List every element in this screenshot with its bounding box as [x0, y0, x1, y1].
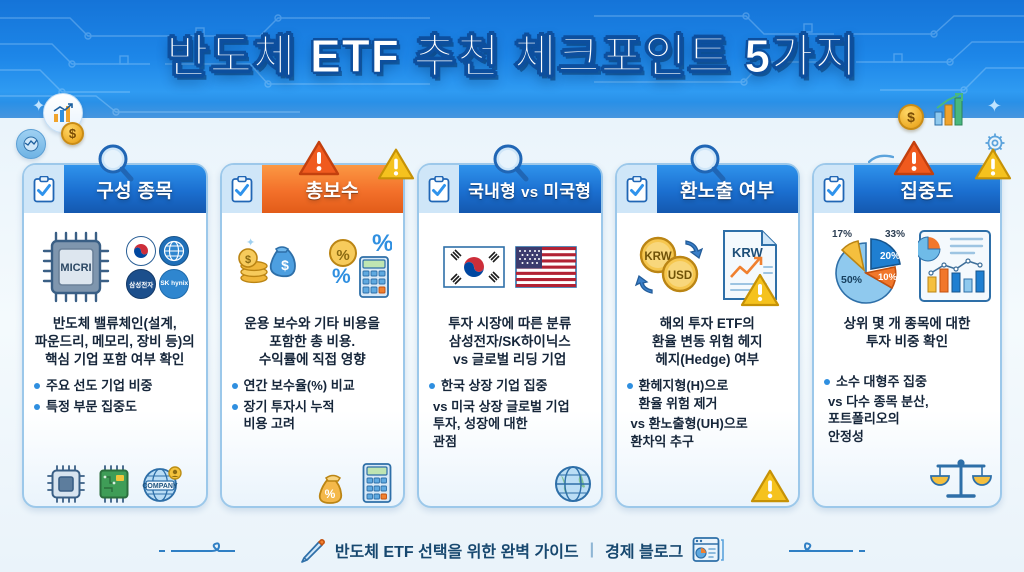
card-description: 운용 보수와 기타 비용을 포함한 총 비용. 수익률에 직접 영향: [230, 313, 396, 368]
card-illustration: KRW USD KRW: [625, 221, 791, 313]
coin-stack-money-bag-icon: ✦ $ $: [232, 232, 320, 302]
card-illustration: MICRI: [32, 221, 198, 313]
list-item: 장기 투자시 누적 비용 고려: [232, 398, 396, 433]
bullet-text: vs 미국 상장 글로벌 기업 투자, 성장에 대한 관점: [433, 398, 570, 450]
pie-label-50: 50%: [841, 274, 863, 286]
bullet-text: 주요 선도 기업 비중: [46, 377, 153, 394]
svg-text:%: %: [337, 247, 350, 264]
page-title-wrap: 반도체 ETF 추천 체크포인트 5가지: [0, 20, 1024, 86]
card-title: 총보수: [306, 176, 359, 203]
bullet-text: 특정 부문 집중도: [46, 398, 137, 415]
card-body: KRW USD KRW: [617, 213, 799, 506]
company-badge-grid: 삼성전자 SK hynix: [126, 236, 189, 299]
card-body: 투자 시장에 따른 분류 삼성전자/SK하이닉스 vs 글로벌 리딩 기업 한국…: [419, 213, 601, 506]
microchip-icon: MICRI: [40, 229, 120, 305]
svg-text:$: $: [281, 257, 289, 273]
clipboard-check-icon: [419, 165, 459, 213]
magnifier-icon: [684, 141, 730, 183]
globe-badge-icon: [159, 236, 189, 266]
pie-label-33: 33%: [885, 229, 905, 240]
card-title: 집중도: [900, 176, 953, 203]
card-title-post: 미국형: [543, 182, 591, 201]
bullet-dot: [429, 383, 435, 389]
list-item: 한국 상장 기업 집중: [429, 377, 593, 394]
list-item: 연간 보수율(%) 비교: [232, 377, 396, 394]
globe-chart-icon: [16, 129, 46, 159]
bullet-dot: [34, 404, 40, 410]
card-domestic-vs-us[interactable]: 국내형 vs 미국형: [417, 163, 603, 508]
clipboard-check-icon: [24, 165, 64, 213]
report-window-icon: [692, 536, 726, 564]
card-bullets: 연간 보수율(%) 비교 장기 투자시 누적 비용 고려: [230, 377, 396, 500]
list-item: 특정 부문 집중도: [34, 398, 198, 415]
bullet-text: 한국 상장 기업 집중: [441, 377, 548, 394]
svg-text:$: $: [245, 254, 251, 266]
samsung-badge-icon: 삼성전자: [126, 269, 156, 299]
footer-line-left: [157, 539, 289, 561]
card-body: 17% 33% 20% 10% 50%: [814, 213, 1000, 506]
card-description: 해외 투자 ETF의 환율 변동 위험 헤지 헤지(Hedge) 여부: [625, 313, 791, 368]
checkpoint-card-row: 구성 종목: [22, 163, 1002, 508]
magnifier-icon: [92, 141, 138, 183]
card-concentration[interactable]: 집중도 17% 33% 20% 10% 50%: [812, 163, 1002, 508]
card-bullets: 주요 선도 기업 비중 특정 부문 집중도: [32, 377, 198, 500]
card-bullets: 한국 상장 기업 집중 vs 미국 상장 글로벌 기업 투자, 성장에 대한 관…: [427, 377, 593, 500]
card-description: 투자 시장에 따른 분류 삼성전자/SK하이닉스 vs 글로벌 리딩 기업: [427, 313, 593, 368]
list-item: vs 환노출형(UH)으로 환차익 추구: [627, 415, 791, 450]
bullet-text: 연간 보수율(%) 비교: [244, 377, 355, 394]
list-item: vs 다수 종목 분산, 포트폴리오의 안정성: [824, 393, 992, 445]
card-body: ✦ $ $ % % %: [222, 213, 404, 506]
footer-bar: 반도체 ETF 선택을 위한 완벽 가이드 | 경제 블로그: [0, 536, 1024, 564]
korea-flag-icon: [443, 246, 505, 288]
krw-document-chart-icon: KRW: [720, 227, 782, 307]
card-description: 상위 몇 개 종목에 대한 투자 비중 확인: [822, 313, 992, 351]
sk-hynix-badge-icon: SK hynix: [159, 269, 189, 299]
card-title-vs: vs: [521, 184, 538, 201]
footer-line-right: [735, 539, 867, 561]
bullet-text: 소수 대형주 집중: [836, 373, 927, 390]
bullet-dot: [627, 383, 633, 389]
list-item: 환헤지형(H)으로 환율 위험 제거: [627, 377, 791, 412]
sk-label: SK hynix: [160, 280, 188, 287]
bullet-text: vs 다수 종목 분산, 포트폴리오의 안정성: [828, 393, 929, 445]
card-illustration: ✦ $ $ % % %: [230, 221, 396, 313]
magnifier-icon: [487, 141, 533, 183]
card-bullets: 소수 대형주 집중 vs 다수 종목 분산, 포트폴리오의 안정성: [822, 373, 992, 500]
card-total-fee[interactable]: 총보수 ✦ $ $ %: [220, 163, 406, 508]
chip-label: MICRI: [61, 262, 92, 274]
page-title: 반도체 ETF 추천 체크포인트 5가지: [166, 20, 857, 86]
clipboard-check-icon: [617, 165, 657, 213]
currency-exchange-icon: KRW USD: [632, 227, 718, 307]
usd-coin-label: USD: [668, 270, 692, 282]
footer-separator: |: [590, 541, 594, 559]
report-chart-icon: [918, 227, 992, 307]
pie-label-10: 10%: [878, 272, 898, 283]
clipboard-check-icon: [814, 165, 854, 213]
card-illustration: [427, 221, 593, 313]
bullet-dot: [232, 383, 238, 389]
pencil-icon: [298, 537, 326, 563]
warning-icon: [298, 139, 340, 177]
korea-flag-badge-icon: [126, 236, 156, 266]
dollar-coin-icon: $: [61, 122, 84, 145]
list-item: 소수 대형주 집중: [824, 373, 992, 390]
pie-chart-icon: 17% 33% 20% 10% 50%: [822, 223, 914, 311]
card-body: MICRI: [24, 213, 206, 506]
footer-guide-text: 반도체 ETF 선택을 위한 완벽 가이드: [335, 538, 579, 562]
warning-icon: [377, 147, 415, 181]
bullet-dot: [824, 379, 830, 385]
sparkle-icon: ✦: [987, 96, 1002, 117]
pie-label-20: 20%: [880, 251, 900, 262]
footer-brand: 경제 블로그: [605, 538, 683, 562]
pie-label-17: 17%: [832, 229, 852, 240]
card-composition[interactable]: 구성 종목: [22, 163, 208, 508]
card-illustration: 17% 33% 20% 10% 50%: [822, 221, 992, 313]
list-item: 주요 선도 기업 비중: [34, 377, 198, 394]
svg-text:%: %: [372, 231, 392, 257]
svg-text:%: %: [332, 265, 351, 288]
bullet-text: vs 환노출형(UH)으로 환차익 추구: [631, 415, 748, 450]
usa-flag-icon: [515, 246, 577, 288]
sparkle-icon: ✦: [246, 237, 255, 249]
samsung-label: 삼성전자: [129, 279, 153, 289]
card-title-pre: 국내형: [468, 182, 516, 201]
clipboard-check-icon: [222, 165, 262, 213]
card-fx-exposure[interactable]: 환노출 여부 KRW USD KRW: [615, 163, 801, 508]
bullet-text: 장기 투자시 누적 비용 고려: [244, 398, 335, 433]
growth-chart-icon: [932, 92, 972, 133]
warning-icon: [893, 139, 935, 177]
list-item: vs 미국 상장 글로벌 기업 투자, 성장에 대한 관점: [429, 398, 593, 450]
bullet-dot: [232, 404, 238, 410]
card-bullets: 환헤지형(H)으로 환율 위험 제거 vs 환노출형(UH)으로 환차익 추구: [625, 377, 791, 500]
warning-icon: [974, 147, 1012, 181]
bullet-dot: [34, 383, 40, 389]
bullet-text: 환헤지형(H)으로 환율 위험 제거: [639, 377, 729, 412]
dollar-coin-icon: $: [898, 104, 924, 130]
card-description: 반도체 밸류체인(설계, 파운드리, 메모리, 장비 등)의 핵심 기업 포함 …: [32, 313, 198, 368]
percent-calculator-icon: % % %: [326, 231, 392, 303]
